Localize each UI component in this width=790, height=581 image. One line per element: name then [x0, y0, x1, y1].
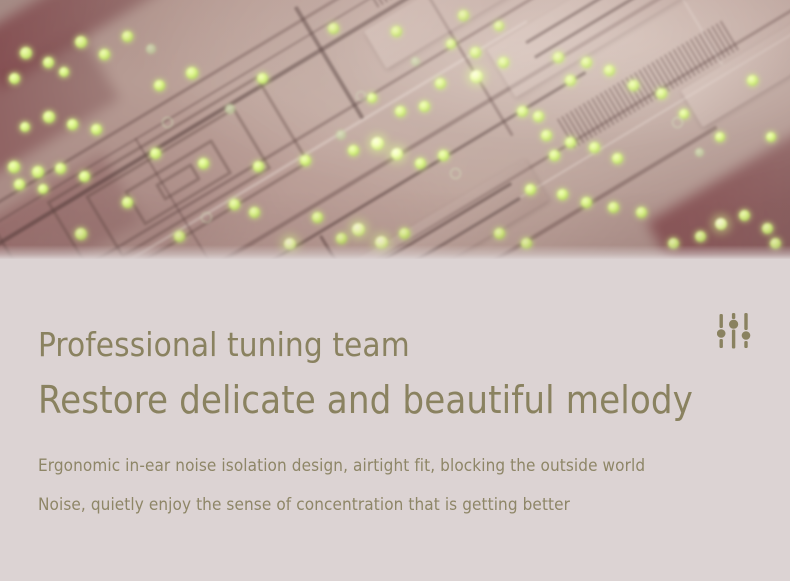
equalizer-sliders-icon [717, 311, 753, 351]
headline-line-2: Restore delicate and beautiful melody [38, 377, 693, 423]
promo-banner: Professional tuning team Restore delicat… [0, 0, 790, 581]
hero-image-circuit-board [0, 0, 790, 259]
headline-line-1: Professional tuning team [38, 325, 410, 365]
body-line-2: Noise, quietly enjoy the sense of concen… [38, 493, 570, 517]
hero-blur-layer [0, 0, 790, 259]
equalizer-sliders-glyph [717, 311, 753, 351]
content-panel: Professional tuning team Restore delicat… [0, 259, 790, 581]
body-line-1: Ergonomic in-ear noise isolation design,… [38, 454, 645, 478]
